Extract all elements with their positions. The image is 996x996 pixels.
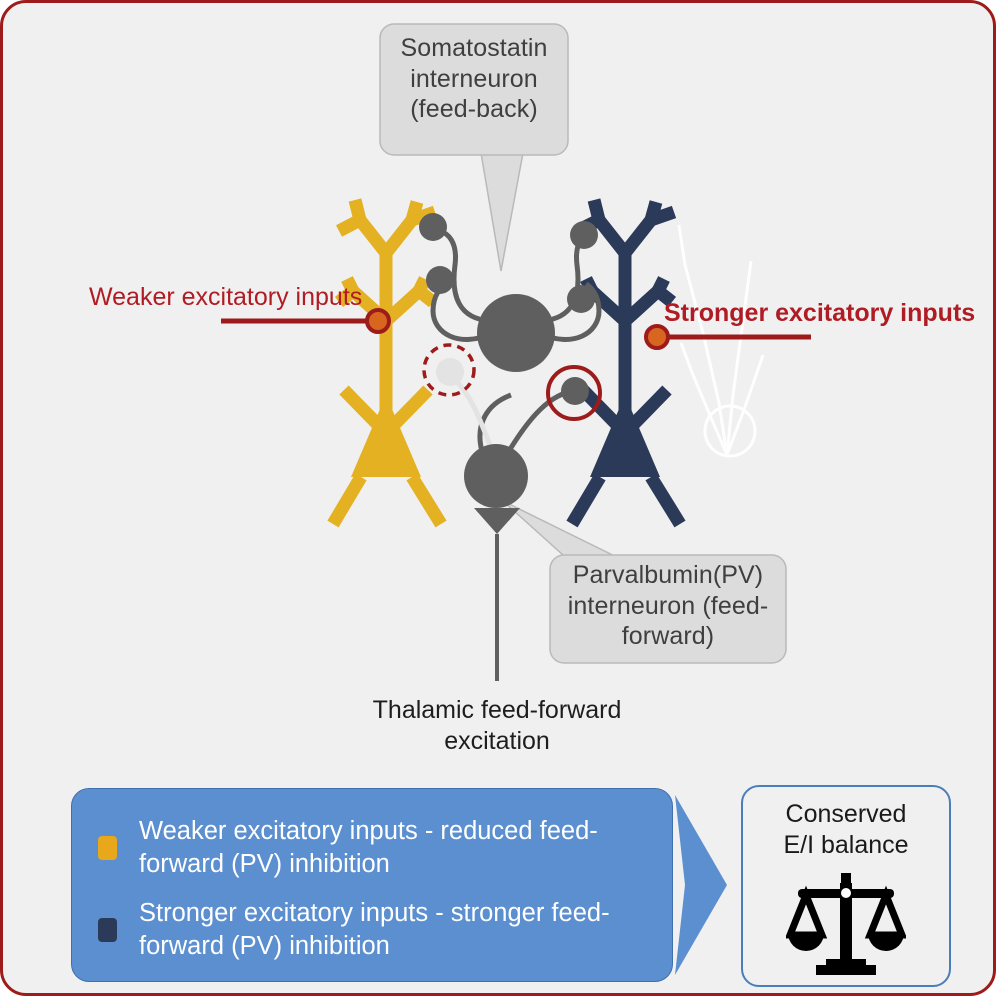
legend-weaker-line-2: forward (PV) inhibition: [139, 848, 598, 881]
legend-swatch-weaker: [98, 836, 117, 860]
parvalbumin-callout-line-1: Parvalbumin(PV): [552, 560, 784, 591]
legend-box: Weaker excitatory inputs - reduced feed-…: [71, 788, 673, 982]
stronger-input-pointer: [646, 326, 811, 348]
weak-synapse-bouton: [436, 358, 464, 386]
ghost-neuron: [679, 225, 763, 456]
somatostatin-callout-line-2: interneuron: [381, 64, 567, 95]
thalamic-label-line-2: excitation: [336, 726, 658, 757]
weaker-excitatory-inputs-label: Weaker excitatory inputs: [89, 283, 362, 312]
figure-panel: Somatostatin interneuron (feed-back) Par…: [0, 0, 996, 996]
thalamic-input-arrowhead: [474, 508, 520, 534]
somatostatin-callout-label: Somatostatin interneuron (feed-back): [381, 33, 567, 125]
conclusion-arrow-icon: [675, 795, 727, 975]
parvalbumin-callout-line-2: interneuron (feed-: [552, 591, 784, 622]
balance-scale-icon: [786, 871, 906, 975]
legend-stronger-line-1: Stronger excitatory inputs - stronger fe…: [139, 897, 610, 930]
legend-item-weaker: Weaker excitatory inputs - reduced feed-…: [98, 815, 650, 881]
parvalbumin-callout-line-3: forward): [552, 621, 784, 652]
legend-swatch-stronger: [98, 918, 117, 942]
legend-weaker-line-1: Weaker excitatory inputs - reduced feed-: [139, 815, 598, 848]
conserved-balance-box: Conserved E/I balance: [741, 785, 951, 987]
conserved-balance-title: Conserved E/I balance: [743, 799, 949, 861]
somatostatin-callout-line-3: (feed-back): [381, 94, 567, 125]
conserved-balance-line-2: E/I balance: [743, 830, 949, 861]
stronger-excitatory-inputs-label: Stronger excitatory inputs: [664, 299, 975, 328]
weaker-input-pointer: [221, 310, 389, 332]
legend-label-weaker: Weaker excitatory inputs - reduced feed-…: [139, 815, 598, 881]
legend-label-stronger: Stronger excitatory inputs - stronger fe…: [139, 897, 610, 963]
parvalbumin-callout-label: Parvalbumin(PV) interneuron (feed- forwa…: [552, 560, 784, 652]
parvalbumin-soma: [464, 444, 528, 508]
thalamic-label-line-1: Thalamic feed-forward: [336, 695, 658, 726]
conserved-balance-line-1: Conserved: [743, 799, 949, 830]
somatostatin-soma: [477, 294, 555, 372]
thalamic-excitation-label: Thalamic feed-forward excitation: [336, 695, 658, 758]
somatostatin-callout-line-1: Somatostatin: [381, 33, 567, 64]
legend-stronger-line-2: forward (PV) inhibition: [139, 930, 610, 963]
legend-item-stronger: Stronger excitatory inputs - stronger fe…: [98, 897, 650, 963]
strong-synapse-bouton: [561, 377, 589, 405]
